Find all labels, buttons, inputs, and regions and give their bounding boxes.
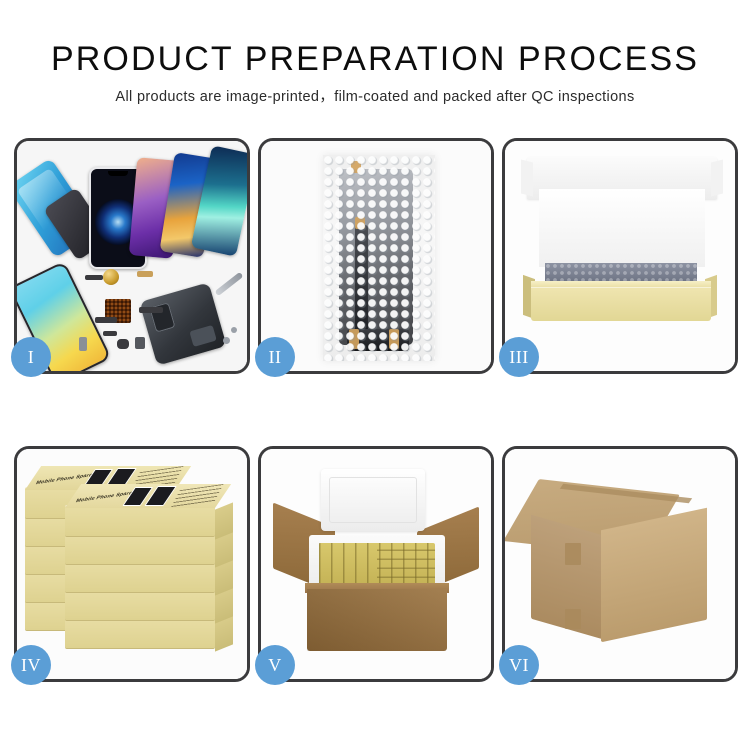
- step-badge-1: I: [11, 337, 51, 377]
- step-5-image: [261, 449, 491, 679]
- carton-front-shading: [307, 589, 447, 651]
- styrofoam-lid: [321, 469, 425, 531]
- step-badge-6: VI: [499, 645, 539, 685]
- screen-notch: [108, 171, 128, 176]
- bubble-wrap-bag: [323, 155, 435, 361]
- box-edge-lines: [377, 543, 435, 587]
- ribbon-cable-part: [95, 317, 117, 323]
- step-3-image: [505, 141, 735, 371]
- process-step-3: III: [502, 138, 738, 374]
- packed-yellow-boxes: [319, 543, 435, 587]
- tape-patch: [565, 609, 581, 629]
- stacked-box: [65, 561, 215, 593]
- stacked-box: [65, 617, 215, 649]
- camera-module-part: [135, 337, 145, 349]
- printed-lid: Mobile Phone Spare Parts: [65, 484, 231, 508]
- vibrator-part: [103, 331, 117, 336]
- page-subtitle: All products are image-printed，film-coat…: [0, 78, 750, 106]
- speaker-part: [117, 339, 129, 349]
- gold-coil-part: [103, 269, 119, 285]
- step-badge-4: IV: [11, 645, 51, 685]
- step-4-image: Mobile Phone Spare Parts Mobile Phone Sp…: [17, 449, 247, 679]
- tape-patch: [565, 543, 581, 565]
- box-front-panel: [531, 287, 711, 321]
- process-step-1: I: [14, 138, 250, 374]
- stacked-box: [65, 589, 215, 621]
- box-stack: Mobile Phone Spare Parts Mobile Phone Sp…: [25, 467, 241, 663]
- process-step-grid: I II: [14, 138, 738, 690]
- page-title: PRODUCT PREPARATION PROCESS: [0, 0, 750, 78]
- step-6-image: [505, 449, 735, 679]
- step-2-image: [261, 141, 491, 371]
- product-preparation-infographic: PRODUCT PREPARATION PROCESS All products…: [0, 0, 750, 750]
- carton-right-panel: [601, 508, 707, 643]
- stacked-box: [65, 533, 215, 565]
- step-badge-3: III: [499, 337, 539, 377]
- process-step-5: V: [258, 446, 494, 682]
- white-foam-liner: [539, 189, 705, 267]
- sim-tray-part: [79, 337, 87, 351]
- step-1-image: [17, 141, 247, 371]
- process-step-2: II: [258, 138, 494, 374]
- screw-part: [231, 327, 237, 333]
- step-badge-2: II: [255, 337, 295, 377]
- antenna-cable-part: [139, 307, 163, 313]
- header: PRODUCT PREPARATION PROCESS All products…: [0, 0, 750, 122]
- bubble-texture: [323, 155, 435, 361]
- step-badge-5: V: [255, 645, 295, 685]
- flex-cable-part: [85, 275, 103, 280]
- process-step-4: Mobile Phone Spare Parts Mobile Phone Sp…: [14, 446, 250, 682]
- connector-part: [137, 271, 153, 277]
- stacked-box-top-front: Mobile Phone Spare Parts: [65, 505, 215, 537]
- lid-spec-lines: [171, 484, 224, 508]
- screw-part: [223, 337, 230, 344]
- process-step-6: VI: [502, 446, 738, 682]
